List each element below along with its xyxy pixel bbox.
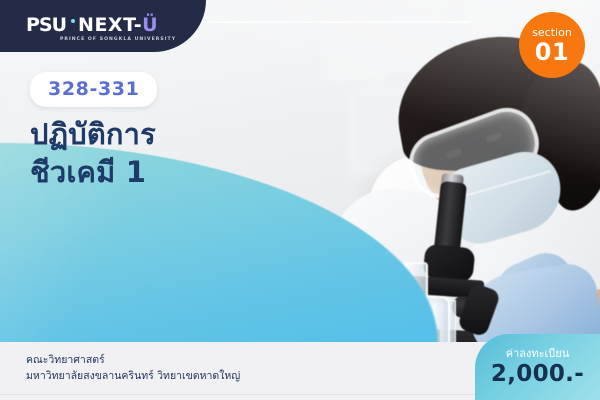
registration-fee-panel: ค่าลงทะเบียน 2,000.- bbox=[475, 334, 600, 400]
university-name: มหาวิทยาลัยสงขลานครินทร์ วิทยาเขตหาดใหญ่ bbox=[26, 368, 240, 384]
section-number: 01 bbox=[535, 40, 569, 64]
faculty-name: คณะวิทยาศาสตร์ bbox=[26, 352, 240, 368]
course-title-line-1: ปฏิบัติการ bbox=[30, 115, 156, 153]
section-label: section bbox=[532, 27, 572, 38]
fee-label: ค่าลงทะเบียน bbox=[506, 348, 570, 359]
course-code-text: 328-331 bbox=[48, 78, 139, 100]
organization-info: คณะวิทยาศาสตร์ มหาวิทยาลัยสงขลานครินทร์ … bbox=[26, 352, 240, 385]
logo-next-text: NEXT-Ü bbox=[78, 14, 158, 36]
logo-u-letter: Ü bbox=[142, 14, 158, 36]
section-badge: section 01 bbox=[519, 12, 585, 78]
psu-next-logo: PSU NEXT-Ü PRINCE OF SONGKLA UNIVERSITY bbox=[26, 14, 176, 42]
logo-subtitle: PRINCE OF SONGKLA UNIVERSITY bbox=[60, 37, 176, 42]
course-title-line-2: ชีวเคมี 1 bbox=[30, 153, 156, 191]
course-title: ปฏิบัติการ ชีวเคมี 1 bbox=[30, 115, 156, 192]
course-code-badge: 328-331 bbox=[30, 72, 157, 107]
brand-header: PSU NEXT-Ü PRINCE OF SONGKLA UNIVERSITY bbox=[0, 0, 206, 52]
logo-dot-icon bbox=[71, 19, 75, 23]
course-banner-card: PSU NEXT-Ü PRINCE OF SONGKLA UNIVERSITY … bbox=[0, 0, 600, 400]
fee-amount: 2,000.- bbox=[491, 363, 584, 386]
logo-psu-text: PSU bbox=[26, 14, 66, 36]
